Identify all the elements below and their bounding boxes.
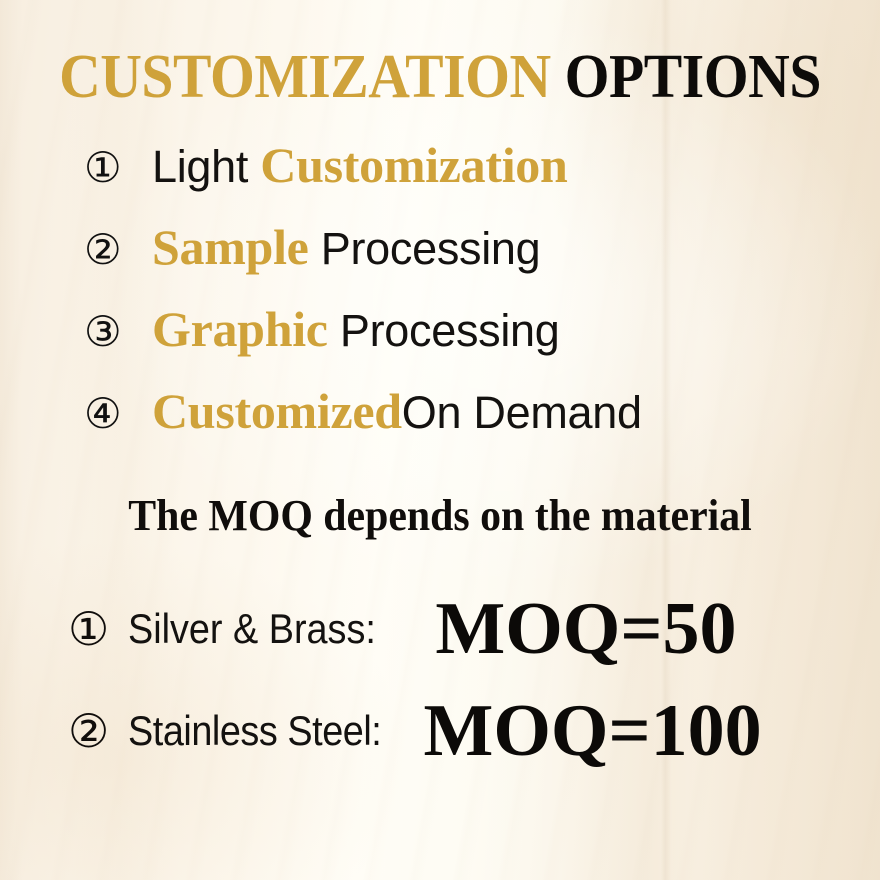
- list-item-3-trail: Processing: [328, 305, 560, 356]
- moq-material-label-1: Silver & Brass:: [128, 605, 376, 653]
- list-item-text: CustomizedOn Demand: [152, 382, 642, 440]
- customization-options-poster: CUSTOMIZATION OPTIONS ① Light Customizat…: [0, 0, 880, 880]
- list-item: ③ Graphic Processing: [0, 300, 880, 382]
- moq-list: ① Silver & Brass: MOQ=50 ② Stainless Ste…: [0, 578, 880, 782]
- list-item-3-accent: Graphic: [152, 301, 328, 357]
- list-item-text: Sample Processing: [152, 218, 540, 276]
- list-item: ① Light Customization: [0, 136, 880, 218]
- list-marker-3: ③: [84, 311, 152, 353]
- list-item-text: Light Customization: [152, 136, 568, 194]
- moq-heading: The MOQ depends on the material: [22, 488, 858, 544]
- customization-options-list: ① Light Customization ② Sample Processin…: [0, 136, 880, 464]
- list-item: ④ CustomizedOn Demand: [0, 382, 880, 464]
- list-item: ② Sample Processing: [0, 218, 880, 300]
- list-marker-2: ②: [84, 229, 152, 271]
- moq-row: ② Stainless Steel: MOQ=100: [0, 680, 880, 782]
- list-item-text: Graphic Processing: [152, 300, 560, 358]
- page-title: CUSTOMIZATION OPTIONS: [31, 40, 849, 114]
- moq-value-2: MOQ=100: [424, 694, 762, 768]
- page-title-highlight: CUSTOMIZATION: [59, 43, 551, 111]
- moq-row: ① Silver & Brass: MOQ=50: [0, 578, 880, 680]
- list-item-2-accent: Sample: [152, 219, 309, 275]
- moq-marker-2: ②: [68, 708, 128, 754]
- list-item-4-accent: Customized: [152, 383, 402, 439]
- list-marker-4: ④: [84, 393, 152, 435]
- list-marker-1: ①: [84, 147, 152, 189]
- list-item-2-trail: Processing: [309, 223, 541, 274]
- moq-marker-1: ①: [68, 606, 128, 652]
- list-item-1-accent: Customization: [260, 137, 567, 193]
- moq-material-label-2: Stainless Steel:: [128, 707, 381, 755]
- list-item-1-lead: Light: [152, 141, 260, 192]
- list-item-4-trail: On Demand: [402, 387, 642, 438]
- page-title-rest: OPTIONS: [551, 43, 821, 111]
- moq-value-1: MOQ=50: [435, 592, 736, 666]
